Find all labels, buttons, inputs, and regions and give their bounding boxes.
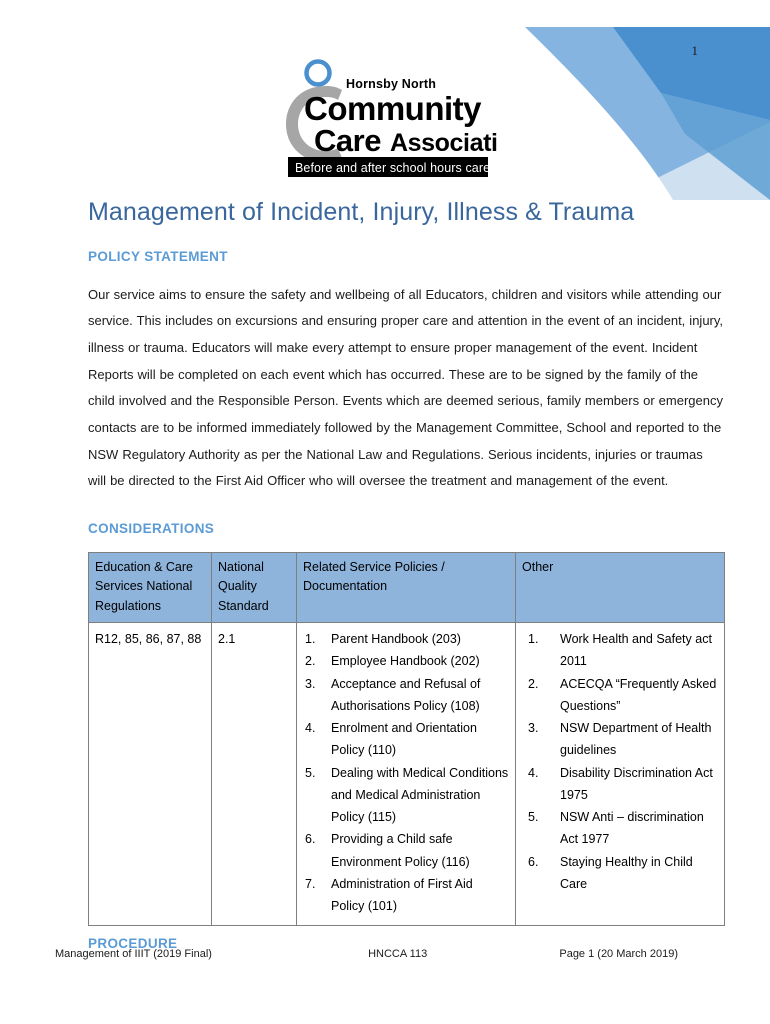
logo-word-association: Association [390, 129, 498, 157]
list-item-label: ACECQA “Frequently Asked Questions” [560, 677, 716, 713]
organisation-logo: Hornsby North Community Care Association… [278, 56, 498, 181]
list-item-marker: 3. [528, 717, 538, 739]
list-item-label: Parent Handbook (203) [331, 632, 461, 646]
list-item-marker: 1. [305, 628, 315, 650]
section-heading-policy-statement: POLICY STATEMENT [88, 249, 724, 264]
list-item-marker: 2. [305, 650, 315, 672]
footer-document-name: Management of IIIT (2019 Final) [55, 948, 212, 960]
list-item-label: NSW Department of Health guidelines [560, 721, 711, 757]
list-item: 5.NSW Anti – discrimination Act 1977 [522, 806, 718, 851]
banner-shape-dark-lower [661, 93, 770, 200]
list-item-marker: 3. [305, 673, 315, 695]
page-title: Management of Incident, Injury, Illness … [88, 198, 724, 227]
list-item: 6.Staying Healthy in Child Care [522, 851, 718, 896]
banner-shape-dark [613, 27, 770, 120]
list-item: 4.Disability Discrimination Act 1975 [522, 762, 718, 807]
column-header-nqs: National Quality Standard [212, 552, 297, 622]
cell-nqs: 2.1 [212, 623, 297, 926]
list-item: 6.Providing a Child safe Environment Pol… [303, 828, 509, 873]
banner-shape-pale [525, 27, 770, 200]
list-item-marker: 4. [305, 717, 315, 739]
list-item: 1.Parent Handbook (203) [303, 628, 509, 650]
list-item-label: Staying Healthy in Child Care [560, 855, 693, 891]
policy-statement-paragraph: Our service aims to ensure the safety an… [88, 282, 724, 495]
list-item-marker: 4. [528, 762, 538, 784]
list-item-marker: 6. [528, 851, 538, 873]
footer-page-info: Page 1 (20 March 2019) [559, 948, 678, 960]
list-item-label: Enrolment and Orientation Policy (110) [331, 721, 477, 757]
list-item-label: NSW Anti – discrimination Act 1977 [560, 810, 704, 846]
other-items-list: 1.Work Health and Safety act 20112.ACECQ… [522, 628, 718, 895]
list-item-marker: 2. [528, 673, 538, 695]
header-decoration-banner: 1 [525, 0, 770, 200]
list-item: 5.Dealing with Medical Conditions and Me… [303, 762, 509, 829]
column-header-regulations: Education & Care Services National Regul… [89, 552, 212, 622]
related-policies-list: 1.Parent Handbook (203)2.Employee Handbo… [303, 628, 509, 917]
banner-mask-curve [525, 27, 673, 200]
page-footer: Management of IIIT (2019 Final) HNCCA 11… [55, 948, 720, 960]
banner-shape-mid [525, 27, 770, 190]
list-item-label: Acceptance and Refusal of Authorisations… [331, 677, 480, 713]
list-item-label: Disability Discrimination Act 1975 [560, 766, 713, 802]
column-header-other: Other [516, 552, 725, 622]
cell-regulations: R12, 85, 86, 87, 88 [89, 623, 212, 926]
logo-top-line: Hornsby North [346, 77, 436, 91]
list-item: 3.NSW Department of Health guidelines [522, 717, 718, 762]
table-row: R12, 85, 86, 87, 88 2.1 1.Parent Handboo… [89, 623, 725, 926]
list-item: 7.Administration of First Aid Policy (10… [303, 873, 509, 918]
list-item-marker: 6. [305, 828, 315, 850]
list-item-marker: 1. [528, 628, 538, 650]
footer-document-code: HNCCA 113 [368, 948, 427, 960]
page-number: 1 [692, 44, 699, 57]
section-heading-considerations: CONSIDERATIONS [88, 521, 724, 536]
list-item-label: Dealing with Medical Conditions and Medi… [331, 766, 508, 825]
list-item: 2.ACECQA “Frequently Asked Questions” [522, 673, 718, 718]
list-item-marker: 5. [305, 762, 315, 784]
list-item-label: Employee Handbook (202) [331, 654, 480, 668]
logo-tagline: Before and after school hours care [295, 161, 490, 175]
list-item-label: Providing a Child safe Environment Polic… [331, 832, 470, 868]
logo-word-care: Care [314, 123, 381, 158]
list-item: 1.Work Health and Safety act 2011 [522, 628, 718, 673]
list-item-marker: 5. [528, 806, 538, 828]
banner-mask [525, 27, 643, 200]
list-item: 4.Enrolment and Orientation Policy (110) [303, 717, 509, 762]
list-item-label: Work Health and Safety act 2011 [560, 632, 712, 668]
list-item-marker: 7. [305, 873, 315, 895]
considerations-table: Education & Care Services National Regul… [88, 552, 725, 926]
list-item-label: Administration of First Aid Policy (101) [331, 877, 473, 913]
logo-word-community: Community [304, 90, 482, 127]
logo-ring-icon [307, 62, 330, 85]
document-body: Management of Incident, Injury, Illness … [88, 198, 724, 959]
column-header-policies: Related Service Policies / Documentation [297, 552, 516, 622]
list-item: 3.Acceptance and Refusal of Authorisatio… [303, 673, 509, 718]
cell-related-policies: 1.Parent Handbook (203)2.Employee Handbo… [297, 623, 516, 926]
table-header-row: Education & Care Services National Regul… [89, 552, 725, 622]
cell-other: 1.Work Health and Safety act 20112.ACECQ… [516, 623, 725, 926]
list-item: 2.Employee Handbook (202) [303, 650, 509, 672]
